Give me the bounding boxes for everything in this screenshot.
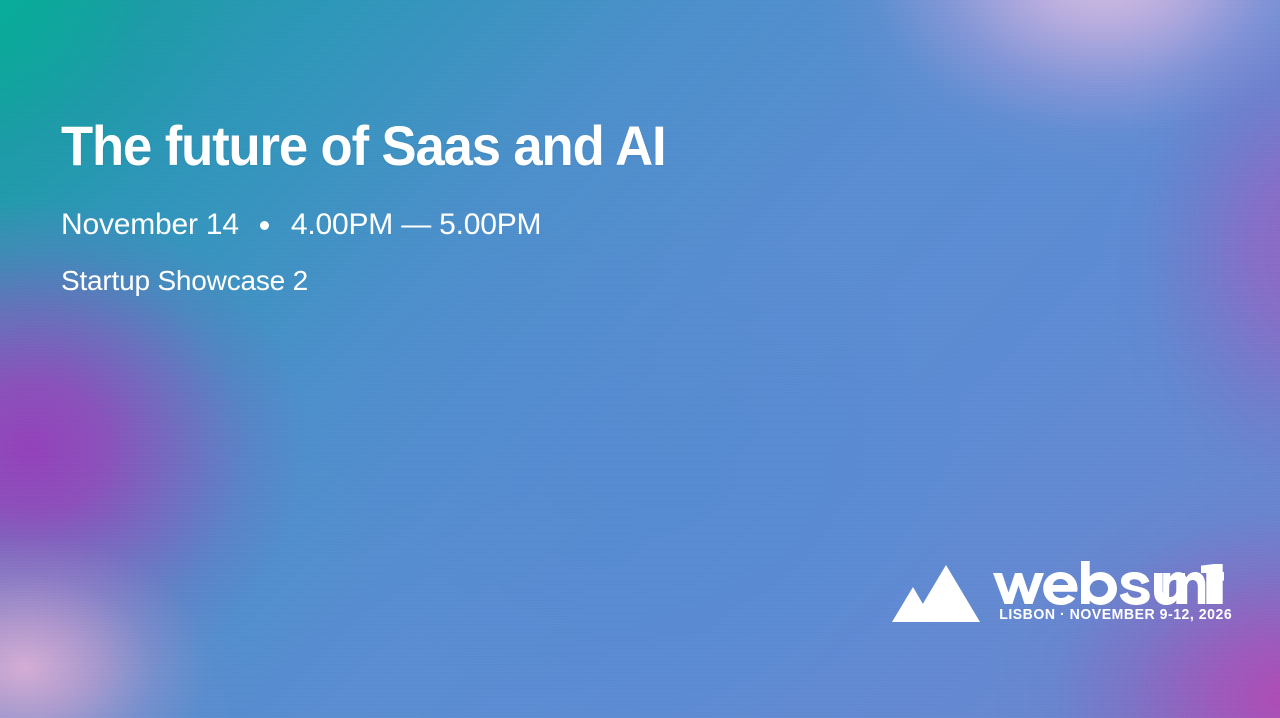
twin-mountain-logo-icon [888,565,980,623]
websummit-wordmark [992,561,1224,605]
websummit-logo-lockup: LISBON · NOVEMBER 9-12, 2026 [888,561,1232,624]
session-room: Startup Showcase 2 [61,267,704,295]
session-time-range: 4.00PM — 5.00PM [291,210,541,240]
session-info-block: The future of Saas and AI November 14 4.… [61,118,704,295]
session-schedule: November 14 4.00PM — 5.00PM [61,210,704,240]
bullet-dot-icon [260,221,269,230]
session-date: November 14 [61,210,239,240]
session-title: The future of Saas and AI [61,118,666,174]
session-card: The future of Saas and AI November 14 4.… [0,0,1280,718]
brand-tagline: LISBON · NOVEMBER 9-12, 2026 [999,608,1232,623]
brand-text-group: LISBON · NOVEMBER 9-12, 2026 [992,561,1232,624]
